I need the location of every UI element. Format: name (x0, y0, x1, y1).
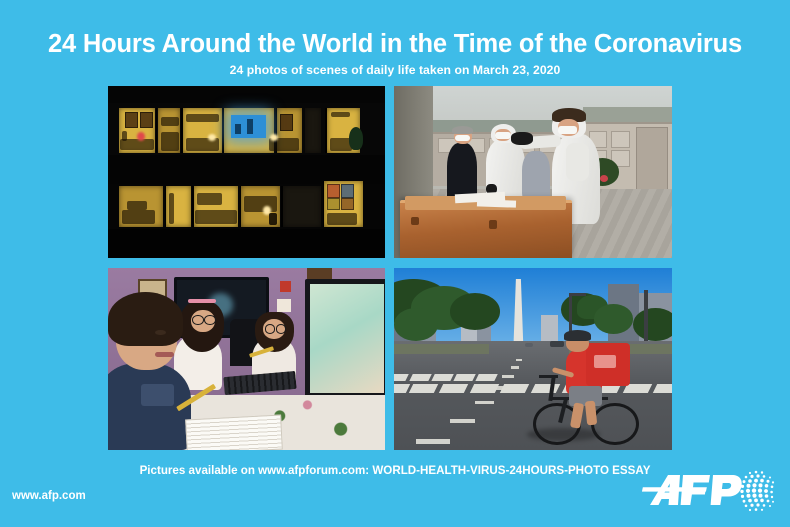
page-subtitle: 24 photos of scenes of daily life taken … (0, 62, 790, 78)
night-apartment-building-image (108, 86, 385, 258)
photo-top-right (394, 86, 672, 258)
afp-logo (642, 463, 782, 521)
page-title: 24 Hours Around the World in the Time of… (0, 29, 790, 59)
photo-grid (108, 86, 672, 450)
afp-website-url[interactable]: www.afp.com (12, 489, 86, 503)
photo-top-left (108, 86, 385, 258)
children-studying-at-home-image (108, 268, 385, 450)
cemetery-coffin-image (394, 86, 672, 258)
photo-bottom-right (394, 268, 672, 450)
photo-bottom-left (108, 268, 385, 450)
poster-canvas: 24 Hours Around the World in the Time of… (0, 0, 790, 527)
empty-avenue-cyclist-obelisk-image (394, 268, 672, 450)
